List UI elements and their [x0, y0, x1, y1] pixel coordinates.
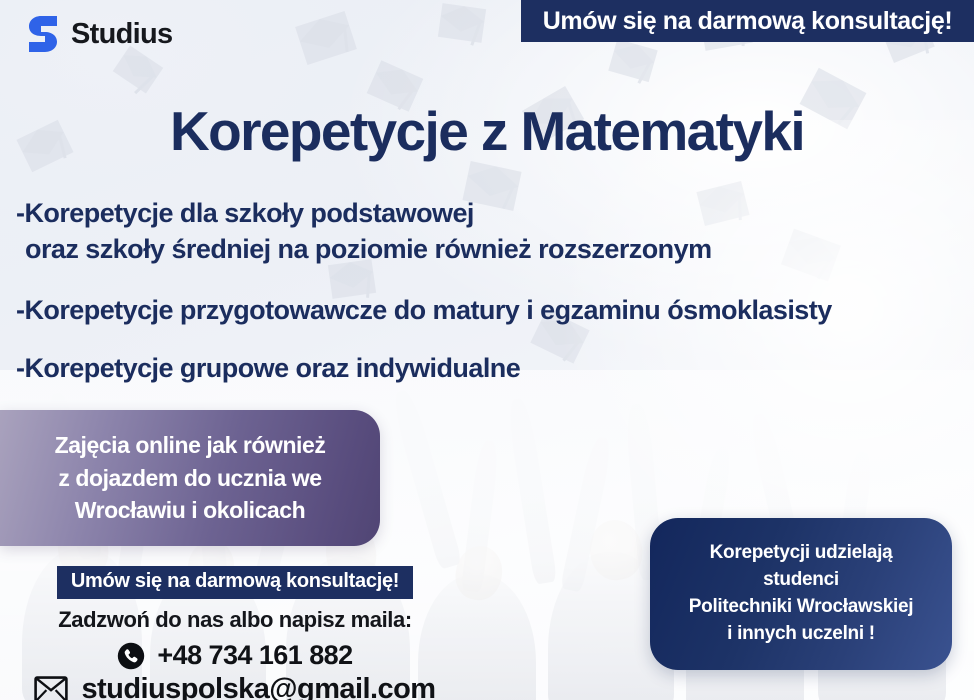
- brand-name: Studius: [71, 20, 172, 49]
- envelope-icon: [34, 676, 68, 700]
- tutors-line-1: Korepetycji udzielają: [710, 540, 893, 567]
- tutors-credentials-panel: Korepetycji udzielają studenci Politechn…: [650, 518, 952, 670]
- contact-block: Umów się na darmową konsultację! Zadzwoń…: [0, 566, 470, 700]
- offer-list-item: -Korepetycje grupowe oraz indywidualne: [16, 351, 964, 387]
- contact-cta-text: Umów się na darmową konsultację!: [71, 570, 399, 592]
- contact-prompt: Zadzwoń do nas albo napisz maila:: [0, 607, 470, 633]
- tutors-line-3: Politechniki Wrocławskiej: [689, 594, 913, 621]
- offer-item-line-1: -Korepetycje dla szkoły podstawowej: [16, 198, 474, 228]
- raised-arm-shape: [389, 388, 462, 570]
- tutors-line-2: studenci: [763, 567, 839, 594]
- phone-row[interactable]: +48 734 161 882: [0, 640, 470, 671]
- tutors-line-4: i innych uczelni !: [727, 621, 875, 648]
- online-lessons-line-3: Wrocławiu i okolicach: [75, 494, 305, 527]
- email-address: studiuspolska@gmail.com: [81, 673, 435, 700]
- offer-item-line-1: -Korepetycje przygotowawcze do matury i …: [16, 295, 832, 325]
- offer-list-item: -Korepetycje przygotowawcze do matury i …: [16, 293, 964, 329]
- brand-logo[interactable]: Studius: [26, 14, 172, 54]
- graduate-head-shape: [586, 516, 647, 583]
- online-lessons-line-1: Zajęcia online jak również: [55, 429, 326, 462]
- offer-list-item: -Korepetycje dla szkoły podstawowej oraz…: [16, 196, 964, 267]
- page-title: Korepetycje z Matematyki: [0, 104, 974, 159]
- phone-number: +48 734 161 882: [157, 640, 352, 671]
- offer-item-line-1: -Korepetycje grupowe oraz indywidualne: [16, 353, 520, 383]
- graduation-cap-shape: [608, 39, 657, 82]
- studius-s-logo-icon: [26, 14, 60, 54]
- offer-item-line-2: oraz szkoły średniej na poziomie również…: [16, 232, 964, 268]
- top-cta-banner[interactable]: Umów się na darmową konsultację!: [521, 0, 974, 42]
- online-lessons-panel: Zajęcia online jak również z dojazdem do…: [0, 410, 380, 546]
- top-cta-banner-text: Umów się na darmową konsultację!: [543, 7, 953, 36]
- poster-canvas: Studius Umów się na darmową konsultację!…: [0, 0, 974, 700]
- offer-list: -Korepetycje dla szkoły podstawowej oraz…: [16, 196, 964, 387]
- raised-arm-shape: [506, 397, 558, 584]
- email-row[interactable]: studiuspolska@gmail.com: [0, 673, 470, 700]
- contact-cta-banner[interactable]: Umów się na darmową konsultację!: [57, 566, 413, 599]
- raised-arm-shape: [560, 435, 614, 592]
- graduation-cap-shape: [438, 3, 486, 43]
- graduation-cap-shape: [295, 11, 357, 65]
- online-lessons-line-2: z dojazdem do ucznia we: [58, 462, 321, 495]
- phone-icon: [117, 642, 145, 670]
